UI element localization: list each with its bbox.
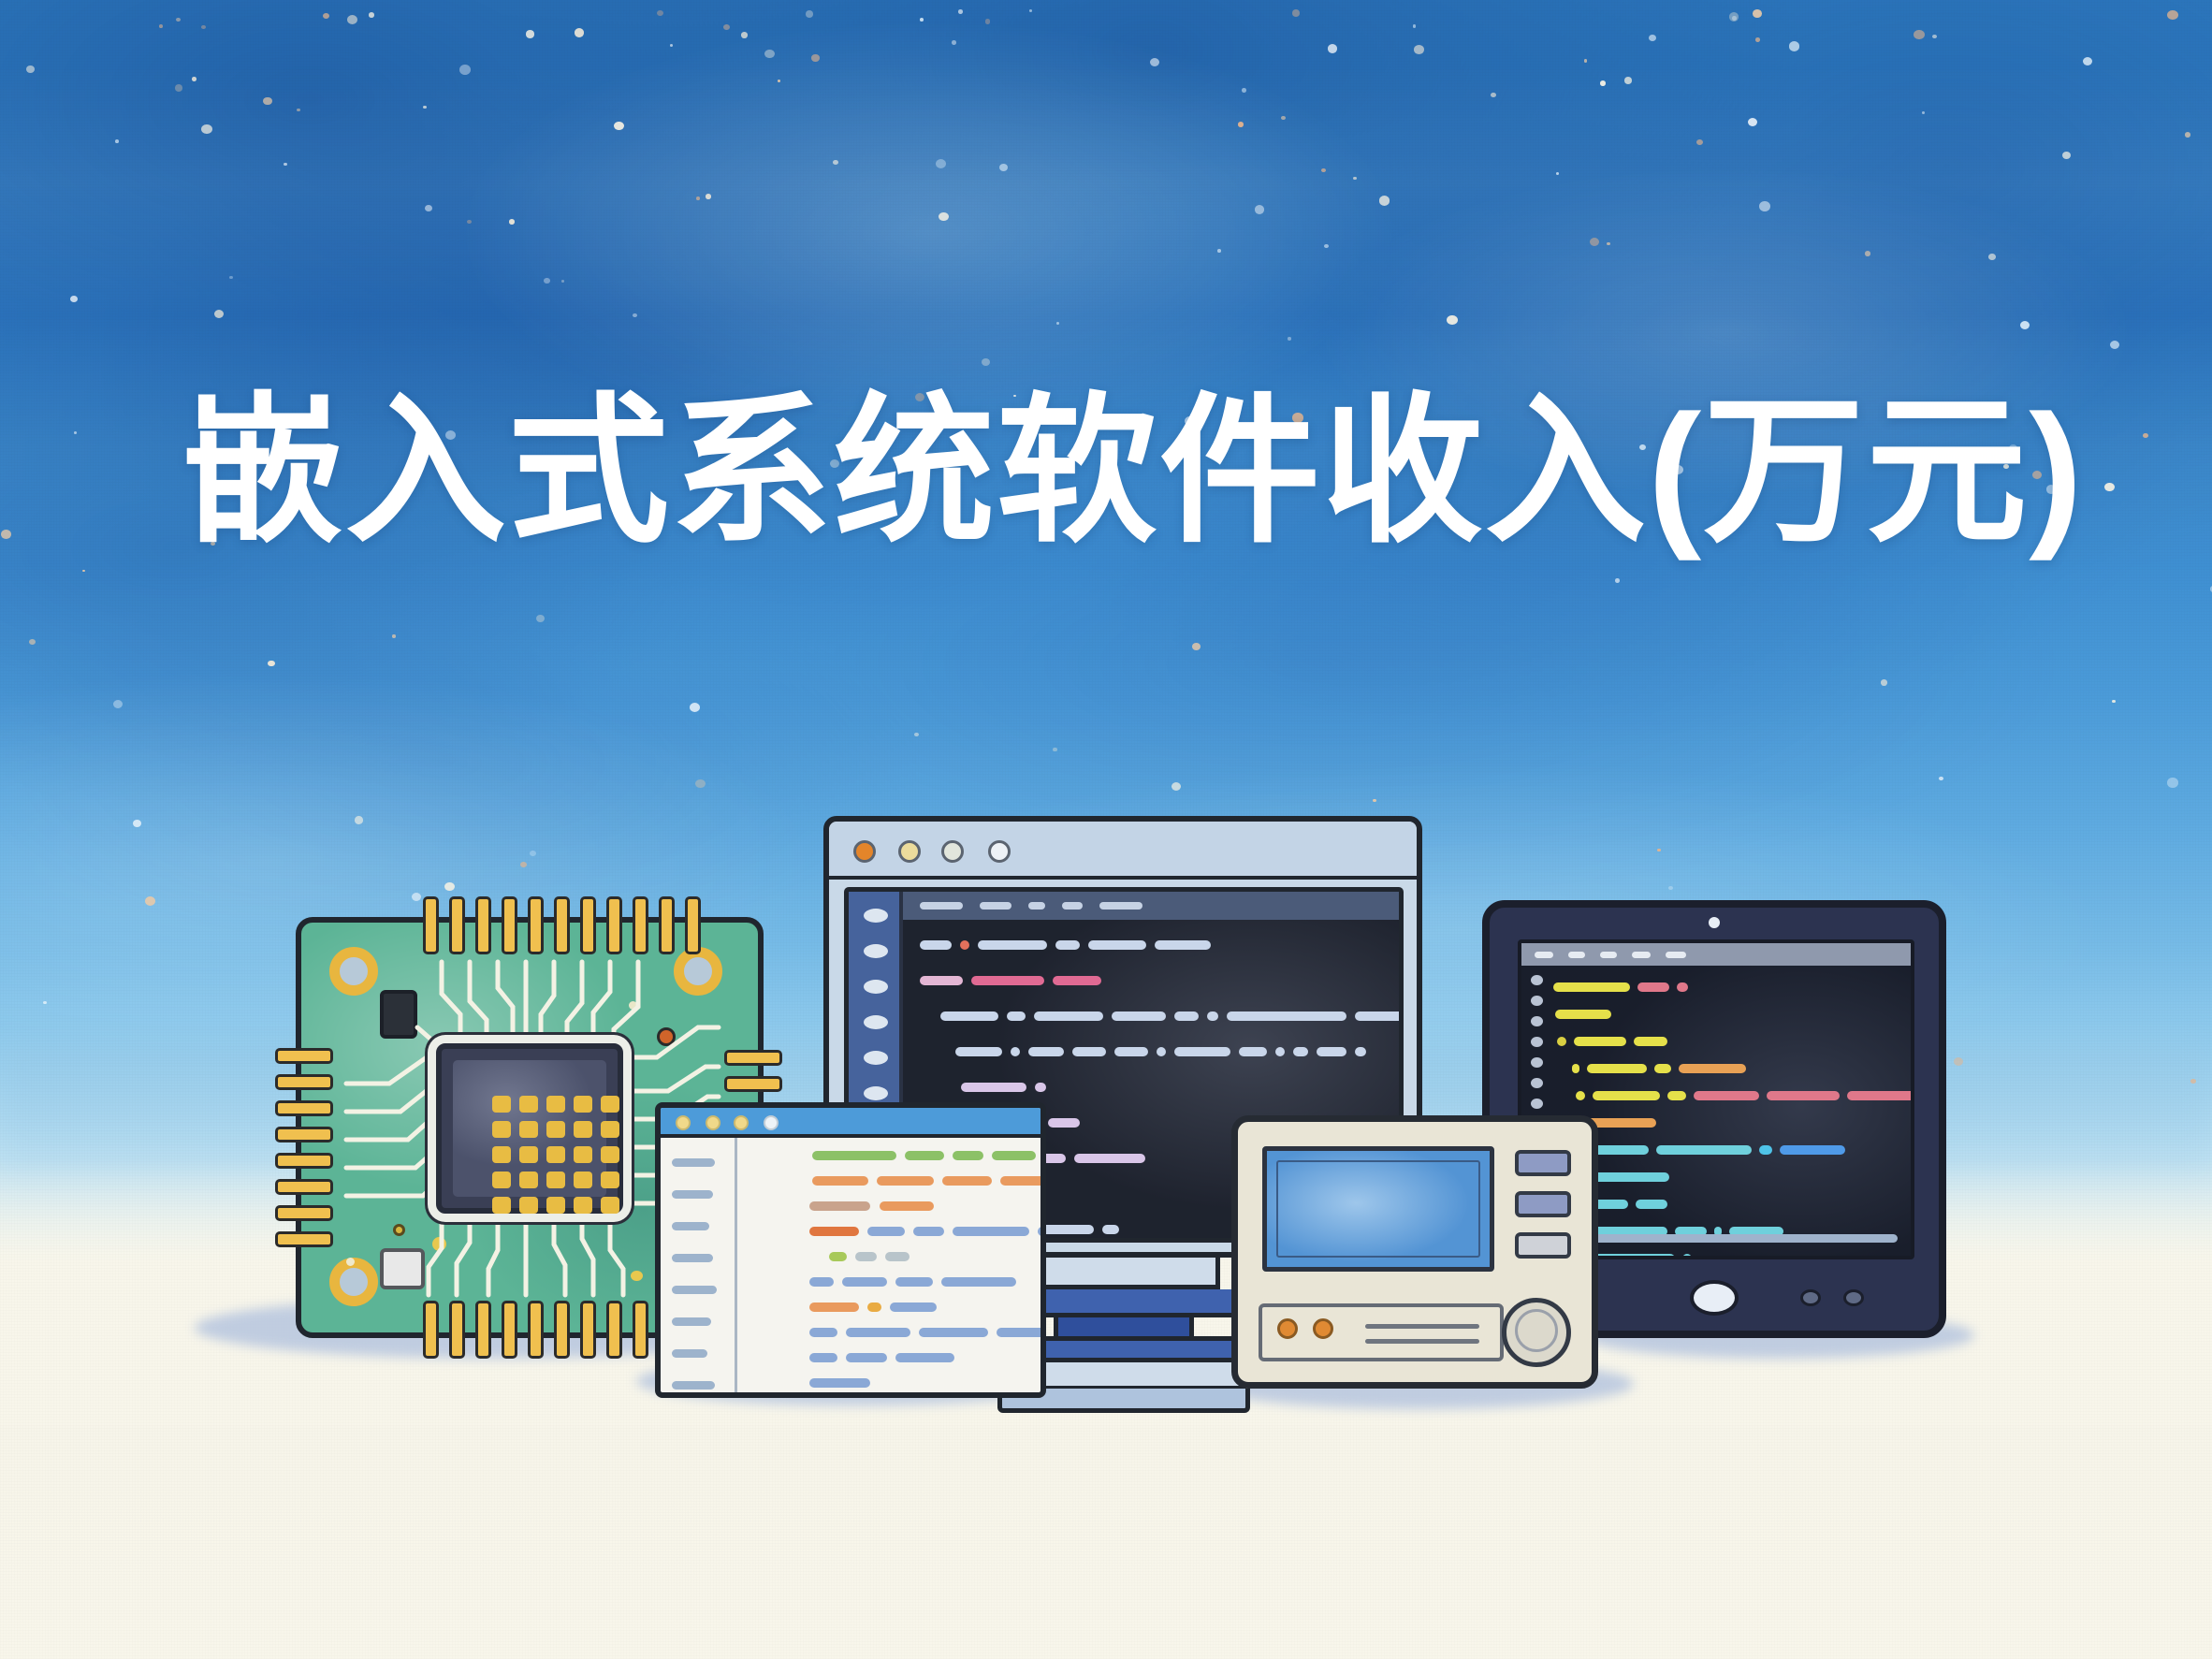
retro-led-1 [1277,1318,1298,1339]
code-token [1637,982,1669,992]
tablet-port-left [1800,1289,1821,1306]
tablet-gutter-dot [1531,1016,1543,1026]
pcb-pin [475,1301,491,1359]
code-token [1011,1047,1020,1056]
code-token [1555,1010,1611,1019]
pcb-pin [724,1076,782,1092]
activity-bar-icon[interactable] [864,1051,888,1065]
code-token [809,1201,870,1211]
chip-ball [574,1121,592,1138]
code-token [955,1047,1002,1056]
code-token [919,1328,988,1337]
retro-computer[interactable] [1231,1115,1598,1389]
pcb-pin [275,1205,333,1221]
code-token [809,1277,833,1287]
chip-ball [546,1197,565,1214]
tablet-tab[interactable] [1535,952,1553,958]
tablet-gutter-dot [1531,1057,1543,1068]
sidebar-list-item[interactable] [672,1158,715,1167]
pcb-pin [449,1301,465,1359]
code-token [1667,1091,1686,1100]
tablet-home-button[interactable] [1690,1280,1739,1316]
sidebar-list-item[interactable] [672,1222,709,1230]
chip-ball [574,1096,592,1113]
editor-tab[interactable] [1099,902,1142,910]
chip-ball [492,1121,511,1138]
pcb-pin [554,1301,570,1359]
code-token [1654,1064,1671,1073]
code-window-sidebar[interactable] [661,1138,737,1392]
tablet-gutter-dot [1531,1078,1543,1088]
chip-ball [519,1121,538,1138]
window-dot-3[interactable] [734,1115,749,1130]
code-token [1088,940,1146,950]
code-token [1636,1200,1667,1209]
chip-ball [546,1096,565,1113]
code-token [1034,1011,1103,1021]
code-token [1694,1091,1759,1100]
sidebar-list-item[interactable] [672,1286,717,1294]
code-token [1007,1011,1026,1021]
chip-ball [492,1096,511,1113]
code-token [1677,982,1688,992]
code-token [941,1277,1016,1287]
window-dot-maximize[interactable] [941,840,964,863]
code-token [978,940,1047,950]
tablet-camera-icon [1709,917,1720,928]
code-token [809,1227,859,1236]
code-token [1155,940,1211,950]
code-token [971,976,1044,985]
code-token [1028,1047,1064,1056]
pcb-pin [475,896,491,954]
sidebar-list-item[interactable] [672,1381,715,1390]
code-token [992,1151,1035,1160]
code-token [1112,1011,1166,1021]
code-token [920,940,952,950]
microcontroller-chip[interactable] [436,1043,623,1214]
tablet-port-right [1843,1289,1864,1306]
sidebar-list-item[interactable] [672,1254,713,1262]
code-token [1000,1176,1046,1186]
code-token [842,1277,887,1287]
tablet-tab[interactable] [1632,952,1651,958]
code-token [1557,1037,1566,1046]
code-token [940,1011,998,1021]
code-token [1048,1118,1080,1128]
chip-ball [601,1096,619,1113]
code-token [885,1252,909,1261]
code-token [809,1328,837,1337]
chip-ball [601,1197,619,1214]
retro-front-panel [1259,1303,1504,1361]
activity-bar-icon[interactable] [864,980,888,994]
code-token [812,1176,869,1186]
chip-ball [574,1171,592,1188]
code-token [1293,1047,1308,1056]
slide-canvas: 嵌入式系统软件收入(万元) [0,0,2212,1659]
editor-tab-strip[interactable] [903,892,1399,920]
pcb-pin [606,896,622,954]
code-window[interactable] [655,1102,1046,1398]
pcb-pin [724,1050,782,1066]
pcb-pin [685,896,701,954]
retro-button-3[interactable] [1515,1232,1571,1259]
editor-tab[interactable] [1062,902,1083,910]
code-token [961,1083,1026,1092]
code-token [877,1176,934,1186]
code-token [942,1176,992,1186]
sidebar-list-item[interactable] [672,1190,713,1199]
code-token [809,1302,859,1312]
code-token [1587,1064,1647,1073]
editor-tab[interactable] [980,902,1011,910]
pcb-pin [633,896,648,954]
pcb-pin [275,1074,333,1090]
chip-die [453,1060,606,1197]
code-token [1227,1011,1346,1021]
code-token [1634,1037,1667,1046]
activity-bar-icon[interactable] [864,909,888,923]
code-token [1679,1064,1746,1073]
activity-bar-icon[interactable] [864,1086,888,1100]
retro-screen [1262,1146,1494,1272]
code-token [829,1252,847,1261]
code-token [890,1302,937,1312]
code-token [1576,1091,1585,1100]
pcb-pin [502,1301,517,1359]
chip-ball [519,1171,538,1188]
code-token [1780,1145,1845,1155]
code-token [913,1227,945,1236]
window-dot-2[interactable] [706,1115,720,1130]
pcb-pin [580,896,596,954]
monitor-titlebar [829,822,1417,880]
pcb-pin [275,1153,333,1169]
code-token [1174,1047,1230,1056]
activity-bar-icon[interactable] [864,1015,888,1029]
code-token [1035,1083,1046,1092]
code-token [1038,1227,1046,1236]
code-token [997,1328,1046,1337]
code-token [1275,1047,1285,1056]
pcb-pin [423,1301,439,1359]
window-dot-minimize[interactable] [898,840,921,863]
window-dot-1[interactable] [676,1115,691,1130]
code-token [905,1151,944,1160]
chip-ball [601,1121,619,1138]
code-token [1593,1091,1660,1100]
chip-ball [519,1146,538,1163]
code-token [953,1151,984,1160]
code-token [1207,1011,1218,1021]
code-token [960,940,969,950]
code-window-titlebar [661,1108,1041,1138]
chip-ball [492,1171,511,1188]
pcb-pin [528,1301,544,1359]
code-token [1656,1145,1752,1155]
code-token [920,976,963,985]
code-token [1040,1225,1094,1234]
retro-vent-2 [1365,1339,1479,1344]
pcb-pin [275,1100,333,1116]
code-token [895,1353,954,1362]
code-token [1847,1091,1914,1100]
code-token [1574,1037,1626,1046]
code-token [1591,1254,1675,1259]
pcb-pin [659,896,675,954]
code-token [1553,982,1630,992]
pcb-pin [606,1301,622,1359]
pcb-pin [275,1048,333,1064]
sidebar-list-item[interactable] [672,1349,707,1358]
pcb-pin [275,1231,333,1247]
pcb-pin [449,896,465,954]
activity-bar-icon[interactable] [864,944,888,958]
code-token [855,1252,877,1261]
tablet-tab-strip[interactable] [1521,943,1911,966]
code-token [812,1151,896,1160]
chip-ball [546,1121,565,1138]
code-token [1767,1091,1840,1100]
editor-tab[interactable] [1028,902,1045,910]
code-token [846,1328,910,1337]
chip-ball [546,1146,565,1163]
code-token [880,1201,935,1211]
code-token [809,1353,837,1362]
tablet-tab[interactable] [1600,952,1617,958]
monitor-neck-upper [1027,1258,1220,1289]
retro-vent-1 [1365,1324,1479,1329]
chip-ball [546,1171,565,1188]
tablet-gutter-dot [1531,996,1543,1006]
pcb-pin [275,1127,333,1142]
pcb-pin [423,896,439,954]
code-token [1055,940,1080,950]
chip-ball [492,1146,511,1163]
window-dot-close[interactable] [853,840,876,863]
editor-tab[interactable] [920,902,963,910]
code-token [1355,1011,1404,1021]
code-token [1759,1145,1772,1155]
retro-dial-knob[interactable] [1502,1298,1571,1367]
window-dot-extra[interactable] [988,840,1011,863]
code-token [1572,1064,1579,1073]
code-token [1102,1225,1119,1234]
chip-ball [601,1146,619,1163]
pcb-pin [580,1301,596,1359]
illustration-scene [0,0,2212,1659]
tablet-gutter-dot [1531,1037,1543,1047]
code-token [1682,1254,1692,1259]
retro-led-2 [1313,1318,1333,1339]
chip-ball [492,1197,511,1214]
pcb-pin [275,1179,333,1195]
retro-button-2[interactable] [1515,1191,1571,1217]
code-token [1072,1047,1106,1056]
pcb-pin [528,896,544,954]
chip-ball [574,1197,592,1214]
code-token [867,1302,881,1312]
tablet-gutter-dot [1531,975,1543,985]
chip-ball-grid [492,1096,619,1214]
chip-ball [519,1096,538,1113]
code-window-lines [743,1138,1033,1387]
code-token [1174,1011,1199,1021]
code-token [1239,1047,1267,1056]
chip-ball [601,1171,619,1188]
tablet-tab[interactable] [1568,952,1585,958]
code-token [1355,1047,1366,1056]
tablet-gutter-dot [1531,1099,1543,1109]
sidebar-list-item[interactable] [672,1317,711,1326]
code-token [867,1227,905,1236]
pcb-pin [633,1301,648,1359]
code-token [1074,1154,1145,1163]
retro-button-1[interactable] [1515,1150,1571,1176]
window-dot-4[interactable] [764,1115,779,1130]
code-token [953,1227,1029,1236]
chip-ball [519,1197,538,1214]
code-token [1317,1047,1346,1056]
code-token [1053,976,1101,985]
code-token [1114,1047,1148,1056]
code-token [809,1378,870,1388]
code-token [895,1277,933,1287]
code-token [846,1353,887,1362]
code-token [1589,1172,1669,1182]
pcb-pin [502,896,517,954]
code-token [1157,1047,1166,1056]
pcb-pin [554,896,570,954]
tablet-tab[interactable] [1666,952,1686,958]
chip-ball [574,1146,592,1163]
